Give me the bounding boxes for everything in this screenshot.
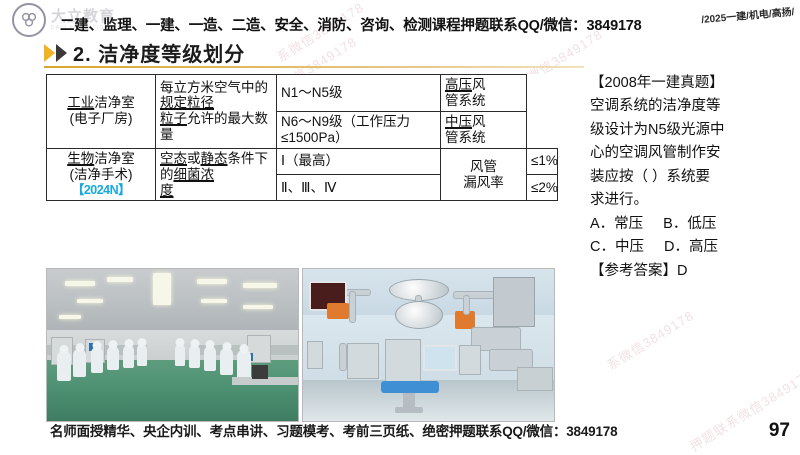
question-line-5: 求进行。 (590, 189, 798, 212)
cleanliness-grade-table: 工业洁净室 (电子厂房) 每立方米空气中的规定粒径粒子允许的最大数量 N1～N5… (46, 74, 558, 201)
slide-root: 系微信3849178 联系微信3849178 押题联系微信3849178 系微信… (0, 0, 800, 452)
chevron-right-icon-dark (56, 44, 67, 62)
cell-grade-rest: Ⅱ、Ⅲ、Ⅳ (277, 175, 441, 201)
cell-leakage-value-1: ≤1% (527, 148, 558, 174)
title-divider (44, 66, 584, 68)
cell-level-n1n5: N1～N5级 (277, 75, 441, 112)
chevron-right-icon-yellow (44, 44, 55, 62)
cell-leakage-value-2: ≤2% (527, 175, 558, 201)
footer-text: 名师面授精华、央企内训、考点串讲、习题模考、考前三页纸、绝密押题联系QQ/微信：… (50, 420, 617, 440)
exam-question-panel: 【2008年一建真题】 空调系统的洁净度等 级设计为N5级光源中 心的空调风管制… (590, 72, 798, 283)
question-line-4: 装应按（ ）系统要 (590, 166, 798, 189)
answer-line: 【参考答案】D (590, 260, 798, 283)
watermark-4: 系微信3849178 (603, 305, 698, 374)
cell-leakage-label: 风管 漏风率 (441, 148, 527, 201)
cell-definition-industrial: 每立方米空气中的规定粒径粒子允许的最大数量 (156, 75, 277, 149)
option-d: D．高压 (664, 236, 718, 259)
cell-category-biological: 生物洁净室 (洁净手术) 【2024N】 (47, 148, 156, 201)
option-b: B．低压 (663, 213, 716, 236)
table-row: 生物洁净室 (洁净手术) 【2024N】 空态或静态条件下的细菌浓度 Ⅰ（最高）… (47, 148, 558, 174)
logo-emblem-icon (12, 3, 46, 37)
page-header: 大立教育 DALI EDUCATION 二建、监理、一建、一造、二造、安全、消防… (0, 0, 800, 36)
option-row-cd: C．中压 D．高压 (590, 236, 798, 259)
cat1-rest: 洁净室 (94, 95, 135, 110)
question-tag: 【2008年一建真题】 (590, 72, 798, 95)
cell-grade-one: Ⅰ（最高） (277, 148, 441, 174)
leakage-label-line2: 漏风率 (463, 175, 504, 190)
option-a: A．常压 (590, 213, 643, 236)
question-line-1: 空调系统的洁净度等 (590, 95, 798, 118)
header-promo-line: 二建、监理、一建、一造、二造、安全、消防、咨询、检测课程押题联系QQ/微信：38… (60, 14, 780, 35)
question-line-2: 级设计为N5级光源中 (590, 119, 798, 142)
cell-system-mid: 中压风管系统 (441, 111, 527, 148)
cell-definition-biological: 空态或静态条件下的细菌浓度 (156, 148, 277, 201)
cat1-underlined: 工业 (67, 95, 94, 110)
table-row: 工业洁净室 (电子厂房) 每立方米空气中的规定粒径粒子允许的最大数量 N1～N5… (47, 75, 558, 112)
cell-system-high: 高压风管系统 (441, 75, 527, 112)
photo-operating-room (302, 268, 555, 422)
section-title: 2. 洁净度等级划分 (44, 38, 245, 67)
cell-category-industrial: 工业洁净室 (电子厂房) (47, 75, 156, 149)
page-title: 2. 洁净度等级划分 (73, 38, 245, 67)
cat2-line2: (洁净手术) (51, 167, 151, 183)
page-number: 97 (769, 420, 790, 442)
photo-industrial-cleanroom (46, 268, 299, 422)
question-line-3: 心的空调风管制作安 (590, 142, 798, 165)
cat2-rest: 洁净室 (94, 151, 135, 166)
option-c: C．中压 (590, 236, 644, 259)
cat1-line2: (电子厂房) (51, 111, 151, 127)
cat2-underlined: 生物 (67, 151, 94, 166)
cat2-year-badge: 【2024N】 (51, 183, 151, 198)
leakage-label-line1: 风管 (470, 159, 497, 174)
cell-level-n6n9: N6～N9级（工作压力≤1500Pa） (277, 111, 441, 148)
option-row-ab: A．常压 B．低压 (590, 213, 798, 236)
